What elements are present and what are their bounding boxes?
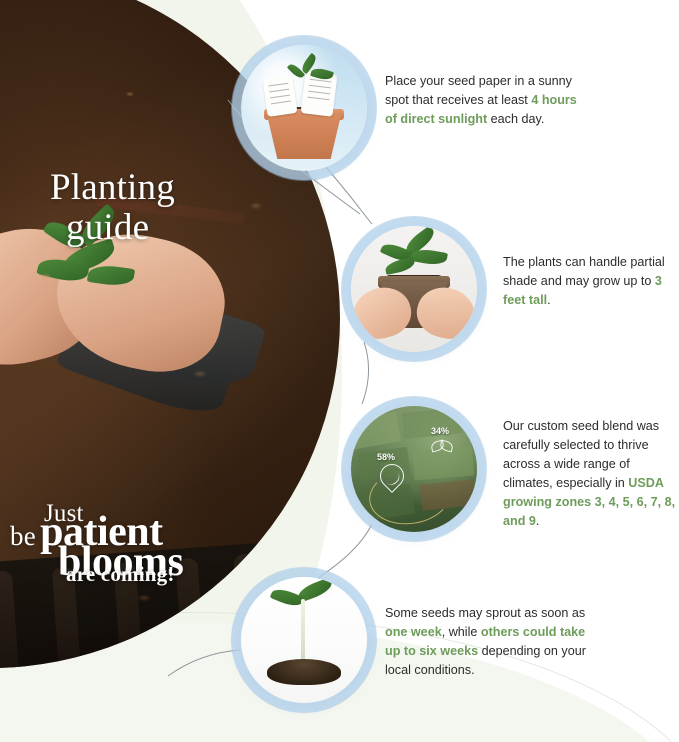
step-4-photo <box>241 577 367 703</box>
seed-paper-tag-left <box>263 75 298 117</box>
moisture-overlay-value: 58% <box>377 452 395 462</box>
planting-guide-poster: Planting guide Just be patient blooms ar… <box>0 0 679 742</box>
step-1-photo <box>241 45 367 171</box>
sprout-stem <box>301 599 305 663</box>
step-image-sprout-time[interactable] <box>241 577 367 703</box>
seedling-leaf-2c <box>410 247 448 267</box>
sprout-icon <box>431 438 451 452</box>
step-4-text-before: Some seeds may sprout as soon as <box>385 606 585 620</box>
step-image-usda-zones[interactable]: 58% 34% <box>351 406 477 532</box>
step-3-photo: 58% 34% <box>351 406 477 532</box>
step-2-photo <box>351 226 477 352</box>
step-1-text-after: each day. <box>487 112 544 126</box>
growth-overlay-value: 34% <box>431 426 449 436</box>
step-image-partial-shade[interactable] <box>351 226 477 352</box>
terracotta-pot <box>267 115 341 159</box>
step-2-text-before: The plants can handle partial shade and … <box>503 255 665 288</box>
step-image-sunlight[interactable] <box>241 45 367 171</box>
step-2-text-after: . <box>547 293 551 307</box>
seedling-leaf-2d <box>384 257 416 275</box>
step-2-text: The plants can handle partial shade and … <box>503 253 673 310</box>
step-4-text-mid: , while <box>442 625 481 639</box>
soil-mound <box>267 659 341 685</box>
step-3-text: Our custom seed blend was carefully sele… <box>503 417 678 531</box>
step-4-highlight: one week <box>385 625 442 639</box>
step-4-text: Some seeds may sprout as soon as one wee… <box>385 604 590 680</box>
sprout-leaf-4b <box>270 585 305 609</box>
step-3-text-after: . <box>536 514 540 528</box>
step-1-text: Place your seed paper in a sunny spot th… <box>385 72 585 129</box>
